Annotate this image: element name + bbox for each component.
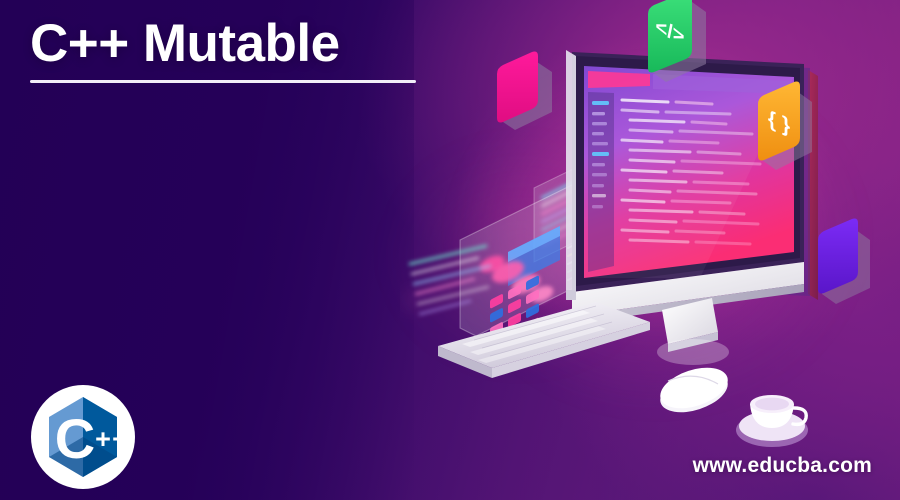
cpp-logo-letter: C (55, 407, 95, 470)
poster-canvas: C++ Mutable C + + www.educba.com (0, 0, 900, 500)
page-title: C++ Mutable (30, 14, 416, 73)
cpp-logo: C + + (30, 384, 136, 490)
coffee-cup (736, 395, 808, 447)
headline-block: C++ Mutable (30, 14, 416, 83)
cpp-logo-plus-2: + (112, 424, 128, 454)
site-watermark: www.educba.com (693, 454, 872, 478)
hero-illustration: </> { } (400, 0, 900, 500)
title-underline (30, 80, 416, 83)
cpp-logo-plus-1: + (95, 424, 111, 454)
mouse (655, 360, 733, 420)
violet-badge (818, 219, 870, 305)
